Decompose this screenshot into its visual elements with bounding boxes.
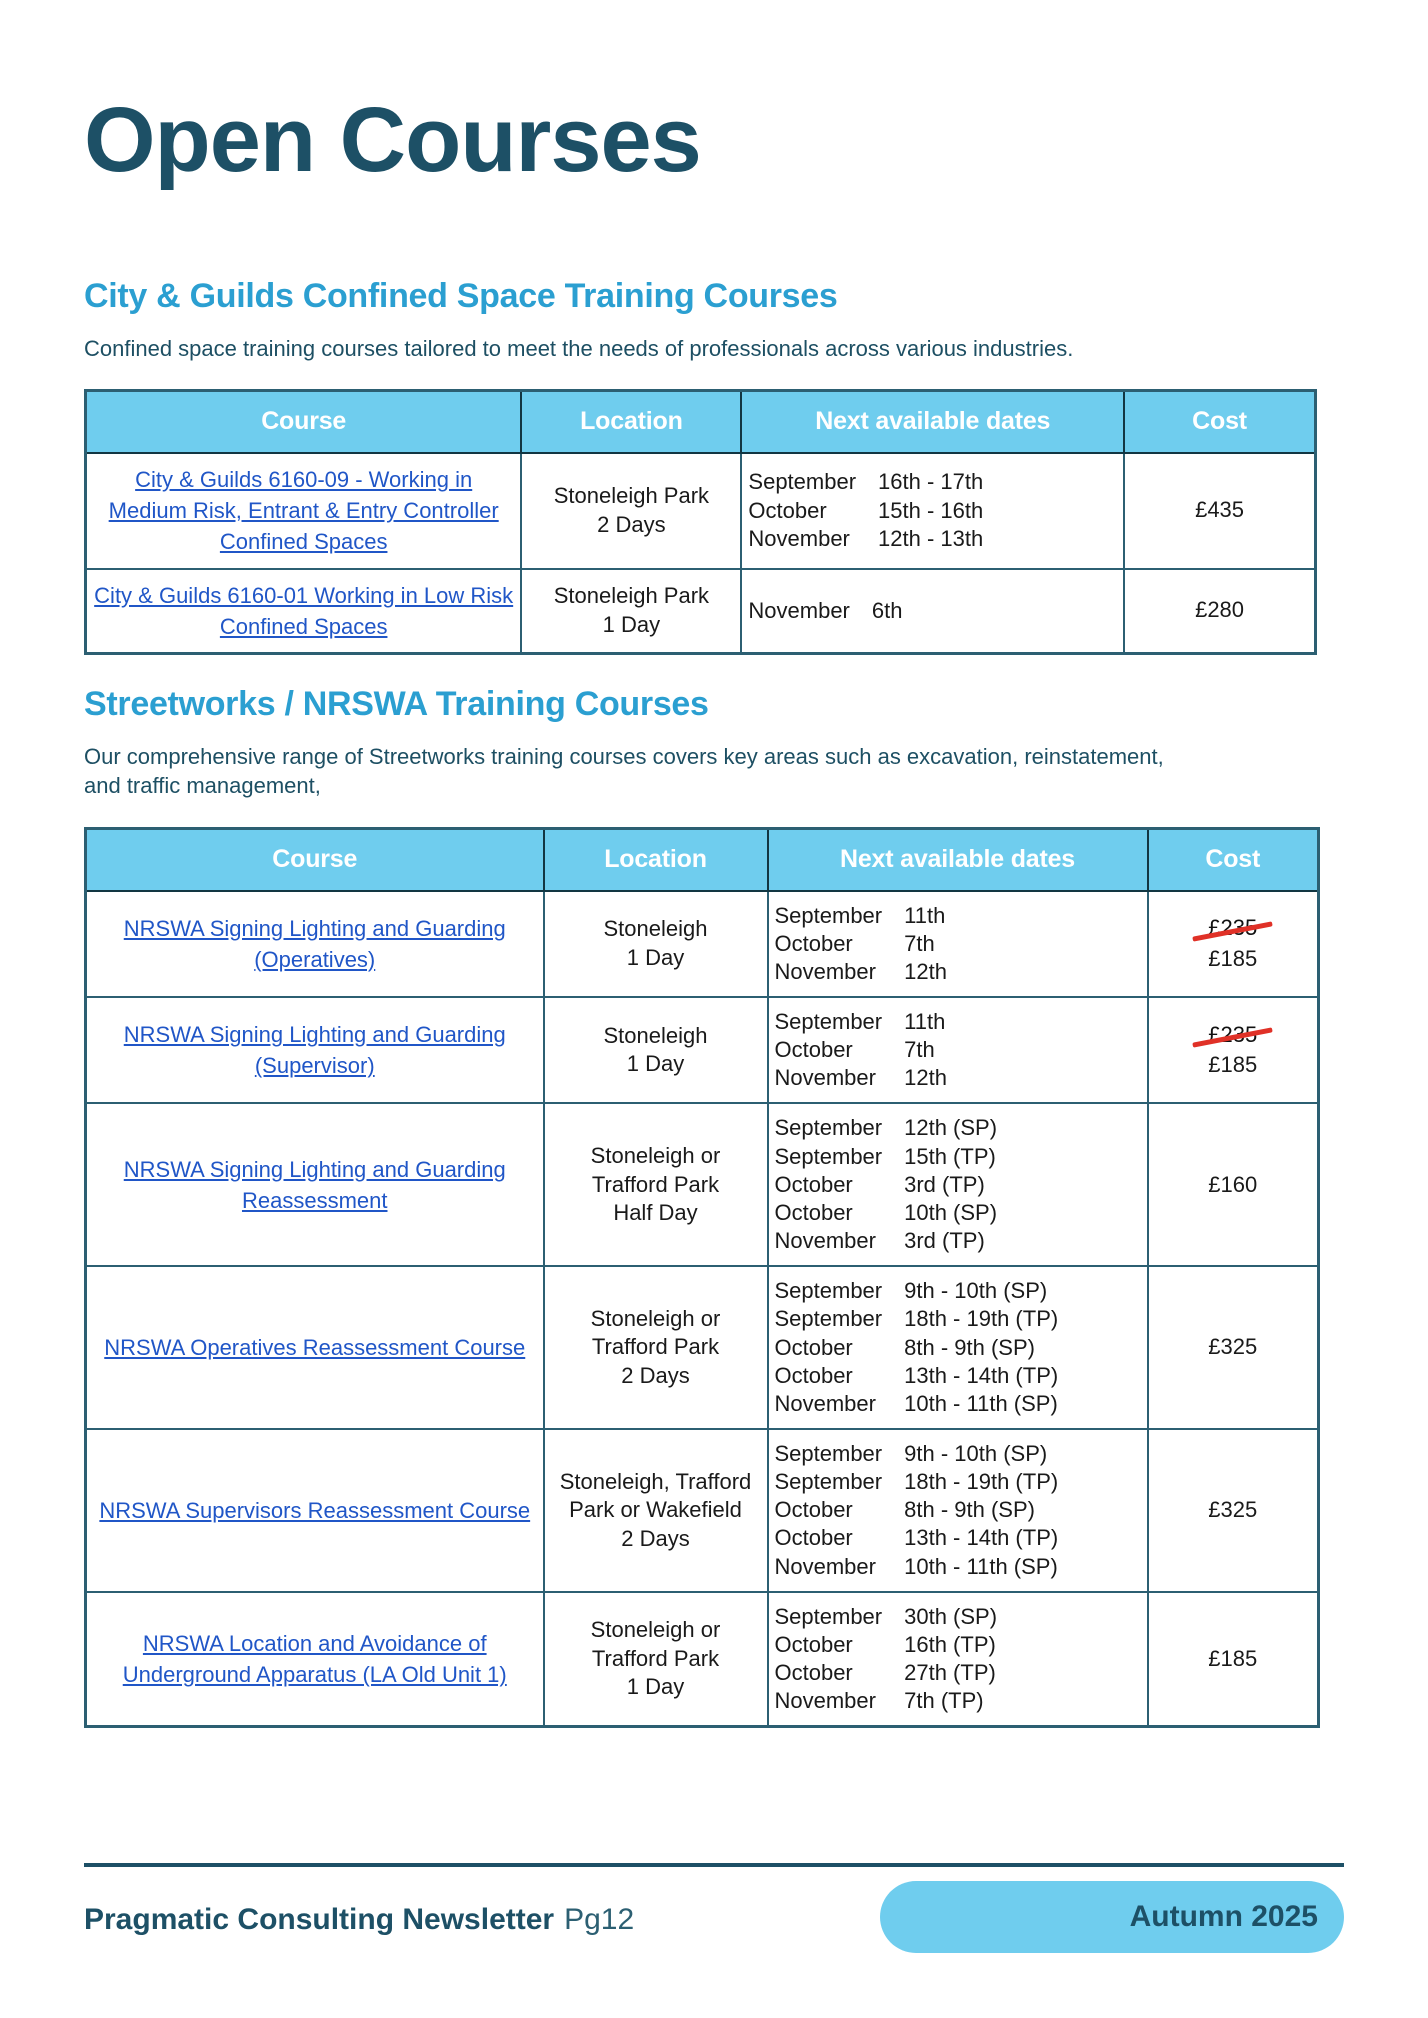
page-footer: Pragmatic Consulting NewsletterPg12 Autu… <box>0 1855 1428 2018</box>
date-entry: November3rd (TP) <box>775 1227 998 1255</box>
date-day: 13th - 14th (TP) <box>904 1524 1058 1552</box>
date-entry: November12th <box>775 958 947 986</box>
price: £280 <box>1195 597 1244 622</box>
date-day: 16th - 17th <box>878 468 983 496</box>
dates-list: September16th - 17thOctober15th - 16thNo… <box>748 468 983 552</box>
cell-cost: £235£185 <box>1148 997 1319 1103</box>
original-price: £235 <box>1208 914 1257 943</box>
column-header-cost: Cost <box>1148 828 1319 891</box>
date-month: November <box>775 1553 905 1581</box>
column-header-dates: Next available dates <box>741 390 1124 453</box>
cell-course: NRSWA Supervisors Reassessment Course <box>86 1429 544 1592</box>
cell-dates: September16th - 17thOctober15th - 16thNo… <box>741 453 1124 569</box>
course-link[interactable]: NRSWA Supervisors Reassessment Course <box>99 1495 530 1526</box>
date-month: October <box>775 1524 905 1552</box>
date-month: September <box>748 468 878 496</box>
date-month: October <box>775 1496 905 1524</box>
date-entry: November10th - 11th (SP) <box>775 1553 1059 1581</box>
cell-location: Stoneleigh Park2 Days <box>521 453 741 569</box>
streetworks-table-body: NRSWA Signing Lighting and Guarding (Ope… <box>86 891 1319 1727</box>
dates-list: September30th (SP)October16th (TP)Octobe… <box>775 1603 998 1716</box>
date-month: September <box>775 1277 905 1305</box>
cell-cost: £235£185 <box>1148 891 1319 997</box>
date-entry: September30th (SP) <box>775 1603 998 1631</box>
cell-cost: £280 <box>1124 569 1315 654</box>
date-day: 13th - 14th (TP) <box>904 1362 1058 1390</box>
cell-location: Stoneleigh or Trafford Park1 Day <box>544 1592 768 1727</box>
cell-cost: £160 <box>1148 1103 1319 1266</box>
date-month: October <box>775 1631 905 1659</box>
column-header-dates: Next available dates <box>768 828 1148 891</box>
date-day: 7th <box>904 930 947 958</box>
footer-publication-name: Pragmatic Consulting Newsletter <box>84 1903 554 1936</box>
date-month: October <box>775 1362 905 1390</box>
cell-location: Stoneleigh1 Day <box>544 997 768 1103</box>
cell-dates: September9th - 10th (SP)September18th - … <box>768 1266 1148 1429</box>
date-month: November <box>748 525 878 553</box>
date-month: November <box>775 1064 905 1092</box>
date-month: October <box>775 1334 905 1362</box>
cell-course: NRSWA Signing Lighting and Guarding Reas… <box>86 1103 544 1266</box>
cell-course: City & Guilds 6160-01 Working in Low Ris… <box>86 569 522 654</box>
date-entry: November7th (TP) <box>775 1687 998 1715</box>
date-month: November <box>775 958 905 986</box>
footer-page-number: Pg12 <box>564 1903 634 1936</box>
date-entry: September9th - 10th (SP) <box>775 1440 1059 1468</box>
dates-list: September12th (SP)September15th (TP)Octo… <box>775 1114 998 1255</box>
date-day: 15th - 16th <box>878 497 983 525</box>
cell-location: Stoneleigh, Trafford Park or Wakefield2 … <box>544 1429 768 1592</box>
date-day: 12th (SP) <box>904 1114 997 1142</box>
date-month: September <box>775 1468 905 1496</box>
course-link[interactable]: City & Guilds 6160-09 - Working in Mediu… <box>93 464 514 558</box>
date-month: September <box>775 1114 905 1142</box>
footer-issue-badge: Autumn 2025 <box>880 1881 1344 1953</box>
date-month: October <box>775 1036 905 1064</box>
course-link[interactable]: NRSWA Signing Lighting and Guarding Reas… <box>93 1154 537 1216</box>
cell-dates: September30th (SP)October16th (TP)Octobe… <box>768 1592 1148 1727</box>
section-intro-streetworks: Our comprehensive range of Streetworks t… <box>84 742 1164 801</box>
date-entry: October13th - 14th (TP) <box>775 1524 1059 1552</box>
column-header-cost: Cost <box>1124 390 1315 453</box>
date-day: 3rd (TP) <box>904 1227 997 1255</box>
date-day: 30th (SP) <box>904 1603 997 1631</box>
date-day: 11th <box>904 1008 947 1036</box>
date-month: September <box>775 1305 905 1333</box>
discounted-price: £185 <box>1155 1051 1312 1080</box>
page-content: Open Courses City & Guilds Confined Spac… <box>84 0 1344 1728</box>
section-heading-confined-space: City & Guilds Confined Space Training Co… <box>84 189 1344 316</box>
date-entry: October15th - 16th <box>748 497 983 525</box>
date-entry: October13th - 14th (TP) <box>775 1362 1059 1390</box>
date-entry: October8th - 9th (SP) <box>775 1496 1059 1524</box>
newsletter-page: Open Courses City & Guilds Confined Spac… <box>0 0 1428 2018</box>
date-day: 8th - 9th (SP) <box>904 1334 1058 1362</box>
date-month: October <box>775 1659 905 1687</box>
table-row: NRSWA Operatives Reassessment CourseSton… <box>86 1266 1319 1429</box>
date-day: 18th - 19th (TP) <box>904 1468 1058 1496</box>
confined-space-courses-table: Course Location Next available dates Cos… <box>84 389 1317 655</box>
price: £325 <box>1208 1334 1257 1359</box>
cell-course: NRSWA Signing Lighting and Guarding (Ope… <box>86 891 544 997</box>
table-header-row: Course Location Next available dates Cos… <box>86 828 1319 891</box>
cell-dates: September9th - 10th (SP)September18th - … <box>768 1429 1148 1592</box>
date-entry: September9th - 10th (SP) <box>775 1277 1059 1305</box>
date-day: 7th (TP) <box>904 1687 997 1715</box>
page-title: Open Courses <box>84 0 1344 189</box>
dates-list: September11thOctober7thNovember12th <box>775 902 947 986</box>
date-day: 16th (TP) <box>904 1631 997 1659</box>
date-month: October <box>775 1171 905 1199</box>
confined-space-table-body: City & Guilds 6160-09 - Working in Mediu… <box>86 453 1316 654</box>
footer-publication: Pragmatic Consulting NewsletterPg12 <box>84 1903 634 1937</box>
dates-list: November6th <box>748 597 902 625</box>
cell-location: Stoneleigh1 Day <box>544 891 768 997</box>
dates-list: September11thOctober7thNovember12th <box>775 1008 947 1092</box>
date-entry: October7th <box>775 930 947 958</box>
table-row: City & Guilds 6160-09 - Working in Mediu… <box>86 453 1316 569</box>
price: £435 <box>1195 497 1244 522</box>
cell-cost: £325 <box>1148 1266 1319 1429</box>
original-price: £235 <box>1208 1021 1257 1050</box>
footer-divider <box>84 1863 1344 1867</box>
price: £325 <box>1208 1497 1257 1522</box>
date-entry: October10th (SP) <box>775 1199 998 1227</box>
date-month: November <box>748 597 871 625</box>
date-day: 15th (TP) <box>904 1143 997 1171</box>
date-month: October <box>775 1199 905 1227</box>
table-row: NRSWA Location and Avoidance of Undergro… <box>86 1592 1319 1727</box>
cell-course: NRSWA Location and Avoidance of Undergro… <box>86 1592 544 1727</box>
date-day: 3rd (TP) <box>904 1171 997 1199</box>
price: £160 <box>1208 1172 1257 1197</box>
date-day: 7th <box>904 1036 947 1064</box>
date-entry: October8th - 9th (SP) <box>775 1334 1059 1362</box>
table-row: City & Guilds 6160-01 Working in Low Ris… <box>86 569 1316 654</box>
section-intro-confined-space: Confined space training courses tailored… <box>84 334 1164 363</box>
cell-course: City & Guilds 6160-09 - Working in Mediu… <box>86 453 522 569</box>
course-link[interactable]: NRSWA Signing Lighting and Guarding (Ope… <box>93 913 537 975</box>
date-day: 10th - 11th (SP) <box>904 1553 1058 1581</box>
date-month: September <box>775 1008 905 1036</box>
date-day: 27th (TP) <box>904 1659 997 1687</box>
discounted-price: £185 <box>1155 945 1312 974</box>
table-row: NRSWA Signing Lighting and Guarding (Sup… <box>86 997 1319 1103</box>
date-entry: November6th <box>748 597 902 625</box>
date-day: 9th - 10th (SP) <box>904 1277 1058 1305</box>
date-day: 18th - 19th (TP) <box>904 1305 1058 1333</box>
date-day: 12th - 13th <box>878 525 983 553</box>
date-day: 10th - 11th (SP) <box>904 1390 1058 1418</box>
date-month: September <box>775 902 905 930</box>
cell-course: NRSWA Signing Lighting and Guarding (Sup… <box>86 997 544 1103</box>
date-day: 6th <box>872 597 903 625</box>
table-row: NRSWA Signing Lighting and Guarding Reas… <box>86 1103 1319 1266</box>
date-month: October <box>748 497 878 525</box>
date-entry: November10th - 11th (SP) <box>775 1390 1059 1418</box>
cell-course: NRSWA Operatives Reassessment Course <box>86 1266 544 1429</box>
cell-dates: September11thOctober7thNovember12th <box>768 997 1148 1103</box>
date-entry: September11th <box>775 902 947 930</box>
dates-list: September9th - 10th (SP)September18th - … <box>775 1440 1059 1581</box>
table-header-row: Course Location Next available dates Cos… <box>86 390 1316 453</box>
date-entry: September18th - 19th (TP) <box>775 1305 1059 1333</box>
table-row: NRSWA Signing Lighting and Guarding (Ope… <box>86 891 1319 997</box>
footer-issue-label: Autumn 2025 <box>1130 1900 1318 1934</box>
date-entry: November12th <box>775 1064 947 1092</box>
date-day: 10th (SP) <box>904 1199 997 1227</box>
date-day: 9th - 10th (SP) <box>904 1440 1058 1468</box>
date-month: September <box>775 1143 905 1171</box>
column-header-course: Course <box>86 390 522 453</box>
date-entry: September15th (TP) <box>775 1143 998 1171</box>
date-entry: September11th <box>775 1008 947 1036</box>
date-entry: September12th (SP) <box>775 1114 998 1142</box>
price: £185 <box>1208 1646 1257 1671</box>
date-entry: October16th (TP) <box>775 1631 998 1659</box>
cell-dates: November6th <box>741 569 1124 654</box>
date-day: 8th - 9th (SP) <box>904 1496 1058 1524</box>
date-entry: September16th - 17th <box>748 468 983 496</box>
date-month: October <box>775 930 905 958</box>
date-entry: September18th - 19th (TP) <box>775 1468 1059 1496</box>
cell-location: Stoneleigh or Trafford ParkHalf Day <box>544 1103 768 1266</box>
streetworks-courses-table: Course Location Next available dates Cos… <box>84 827 1320 1729</box>
date-day: 12th <box>904 958 947 986</box>
course-link[interactable]: NRSWA Signing Lighting and Guarding (Sup… <box>93 1019 537 1081</box>
cell-dates: September11thOctober7thNovember12th <box>768 891 1148 997</box>
cell-dates: September12th (SP)September15th (TP)Octo… <box>768 1103 1148 1266</box>
course-link[interactable]: NRSWA Operatives Reassessment Course <box>104 1332 525 1363</box>
cell-cost: £325 <box>1148 1429 1319 1592</box>
cell-location: Stoneleigh Park1 Day <box>521 569 741 654</box>
cell-cost: £185 <box>1148 1592 1319 1727</box>
date-month: November <box>775 1227 905 1255</box>
date-entry: November12th - 13th <box>748 525 983 553</box>
date-day: 11th <box>904 902 947 930</box>
column-header-location: Location <box>521 390 741 453</box>
date-month: September <box>775 1603 905 1631</box>
date-entry: October3rd (TP) <box>775 1171 998 1199</box>
date-entry: October7th <box>775 1036 947 1064</box>
column-header-course: Course <box>86 828 544 891</box>
cell-location: Stoneleigh or Trafford Park2 Days <box>544 1266 768 1429</box>
section-heading-streetworks: Streetworks / NRSWA Training Courses <box>84 655 1344 724</box>
date-day: 12th <box>904 1064 947 1092</box>
column-header-location: Location <box>544 828 768 891</box>
dates-list: September9th - 10th (SP)September18th - … <box>775 1277 1059 1418</box>
table-row: NRSWA Supervisors Reassessment CourseSto… <box>86 1429 1319 1592</box>
course-link[interactable]: City & Guilds 6160-01 Working in Low Ris… <box>93 580 514 642</box>
date-month: September <box>775 1440 905 1468</box>
date-month: November <box>775 1687 905 1715</box>
cell-cost: £435 <box>1124 453 1315 569</box>
date-entry: October27th (TP) <box>775 1659 998 1687</box>
course-link[interactable]: NRSWA Location and Avoidance of Undergro… <box>93 1628 537 1690</box>
date-month: November <box>775 1390 905 1418</box>
